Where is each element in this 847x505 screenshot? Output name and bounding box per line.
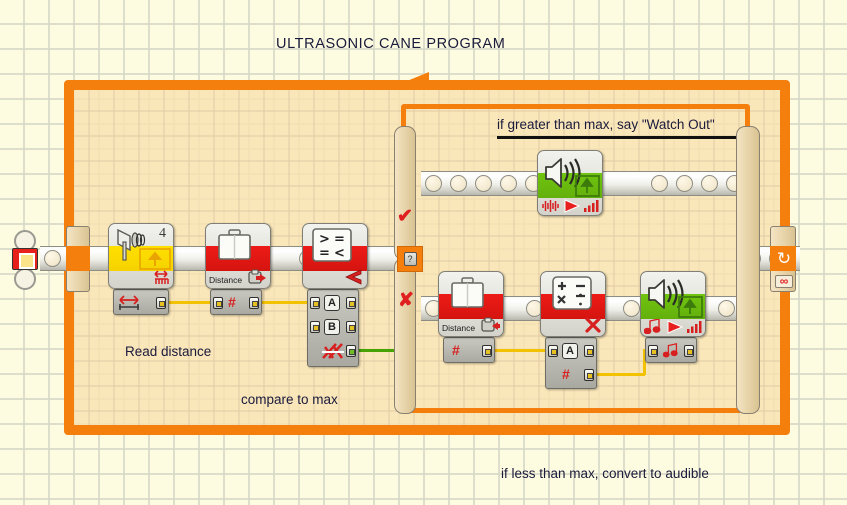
page-title: ULTRASONIC CANE PROGRAM [276, 36, 505, 52]
compare-logic-output-plug[interactable] [346, 345, 356, 357]
svg-text:=: = [319, 246, 330, 261]
switch-selector-label: ? [404, 252, 417, 266]
math-result-number-icon: # [562, 366, 570, 382]
beam-hole [718, 300, 735, 317]
variable-write-name: Distance [209, 275, 242, 285]
start-icon [12, 248, 38, 270]
sound-tone-file-icon [678, 296, 703, 318]
variable-icon [217, 229, 253, 261]
math-icon [552, 276, 592, 310]
beam-hole [701, 175, 718, 192]
variable-read-output-plug[interactable] [482, 345, 492, 357]
wire-math-to-tone-seg1 [595, 373, 645, 376]
beam-hole [44, 250, 61, 267]
beam-hole [450, 175, 467, 192]
sound-block-tone[interactable] [640, 271, 706, 337]
waveform-icon [541, 199, 560, 213]
svg-text:<: < [334, 246, 345, 261]
compare-input-b-label: B [324, 319, 340, 335]
distance-output-icon [117, 295, 141, 312]
svg-text:>: > [319, 232, 330, 247]
sound-tone-output-plug[interactable] [684, 345, 694, 357]
beam-hole [623, 300, 640, 317]
ultrasonic-sensor-block[interactable]: 4 [108, 223, 174, 289]
beam-hole [500, 175, 517, 192]
variable-block-distance-read[interactable]: Distance [438, 271, 504, 337]
loop-end-bar[interactable]: ↻ ∞ [770, 226, 796, 292]
variable-read-data-hub[interactable]: # [443, 337, 495, 363]
sound-tone-controls [644, 319, 702, 334]
math-input-a-out-plug[interactable] [584, 345, 594, 357]
ultrasonic-range-icon [139, 248, 171, 270]
switch-true-icon: ✔ [397, 205, 413, 228]
compare-icon: > = = < [312, 228, 352, 262]
math-block-multiply[interactable] [540, 271, 606, 337]
loop-start-bar[interactable] [66, 226, 90, 292]
compare-input-a-plug[interactable] [310, 297, 320, 309]
play-icon [666, 320, 684, 334]
switch-tab-right[interactable] [736, 126, 760, 414]
variable-write-action-icon [248, 269, 267, 285]
program-canvas[interactable]: ULTRASONIC CANE PROGRAM [0, 0, 847, 505]
compare-block[interactable]: > = = < [302, 223, 368, 289]
beam-hole [676, 175, 693, 192]
beam-hole [475, 175, 492, 192]
math-input-a-label: A [562, 343, 578, 359]
variable-write-input-plug[interactable] [213, 297, 223, 309]
sound-tone-data-hub[interactable] [645, 337, 697, 363]
compare-operator-less-than-icon [344, 269, 364, 285]
compare-logic-output-icon [320, 342, 346, 362]
sound-block-watch-out[interactable] [537, 150, 603, 216]
note-icon [644, 319, 663, 334]
beam-hole [651, 175, 668, 192]
compare-input-a-label: A [324, 295, 340, 311]
sound-file-icon [575, 175, 600, 197]
volume-icon [583, 199, 599, 213]
comment-false-branch: if less than max, convert to audible [501, 466, 709, 481]
loop-count-label: ∞ [775, 275, 793, 288]
variable-write-output-plug[interactable] [249, 297, 259, 309]
volume-icon [686, 320, 702, 334]
variable-icon [450, 277, 486, 309]
wire-variable-to-compare-a [260, 301, 310, 304]
ultrasonic-data-hub[interactable] [113, 289, 169, 315]
beam-hole [425, 175, 442, 192]
wire-read-to-math-a [493, 349, 546, 352]
variable-read-action-icon [481, 317, 500, 333]
switch-selector-connector[interactable]: ? [397, 246, 423, 272]
switch-tab-true[interactable]: ✔ [394, 126, 416, 260]
note-icon [663, 342, 680, 359]
compare-input-b-out-plug[interactable] [346, 321, 356, 333]
comment-true-branch: if greater than max, say "Watch Out" [497, 117, 715, 132]
math-data-hub[interactable]: A # [545, 337, 597, 389]
comment-read-distance: Read distance [125, 344, 211, 359]
compare-input-a-out-plug[interactable] [346, 297, 356, 309]
ultrasonic-number-output-plug[interactable] [156, 297, 166, 309]
compare-data-hub[interactable]: A B [307, 289, 359, 367]
variable-read-number-type-icon: # [452, 342, 460, 358]
svg-text:=: = [334, 232, 345, 247]
compare-input-b-plug[interactable] [310, 321, 320, 333]
multiply-icon [584, 317, 602, 333]
start-ring-bottom [14, 268, 36, 290]
variable-block-distance-write[interactable]: Distance [205, 223, 271, 289]
comment-compare-to-max: compare to max [241, 392, 338, 407]
play-icon [563, 199, 581, 213]
loop-direction-arrow-icon [407, 72, 429, 90]
wire-distance-to-variable [167, 301, 213, 304]
switch-false-icon: ✘ [398, 289, 414, 312]
switch-tab-false[interactable]: ✘ [394, 258, 416, 414]
sound-tone-input-plug[interactable] [648, 345, 658, 357]
variable-read-name: Distance [442, 323, 475, 333]
variable-write-data-hub[interactable]: # [210, 289, 262, 315]
math-input-a-plug[interactable] [548, 345, 558, 357]
math-result-output-plug[interactable] [584, 369, 594, 381]
variable-number-type-icon: # [228, 294, 236, 310]
ultrasonic-distance-unit-icon [153, 270, 170, 285]
sound-true-controls [541, 199, 599, 213]
loop-repeat-icon: ↻ [774, 249, 794, 269]
start-block[interactable] [8, 228, 44, 290]
loop-start-band [66, 246, 90, 271]
